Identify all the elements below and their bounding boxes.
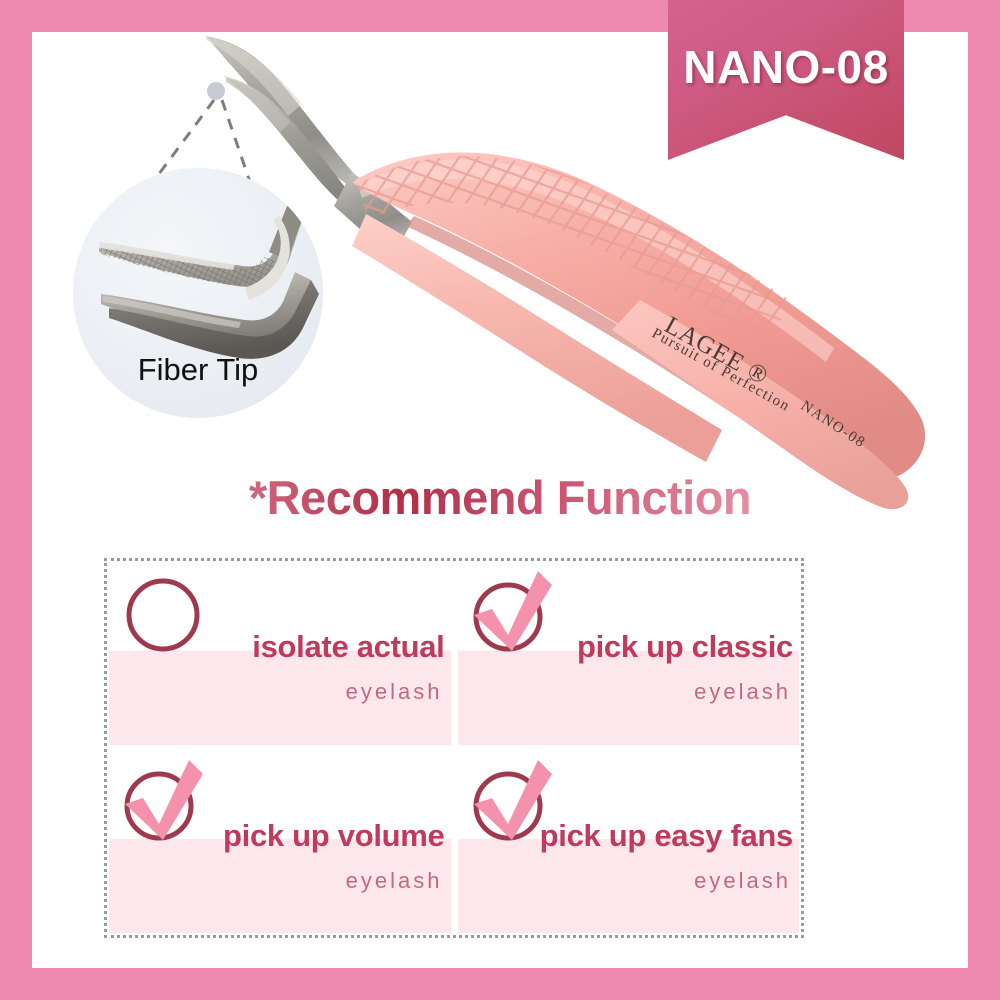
function-cell-pick-up-volume[interactable]: pick up volume eyelash: [109, 752, 451, 934]
function-subtitle: eyelash: [109, 679, 443, 705]
function-subtitle: eyelash: [109, 868, 443, 894]
function-cell-isolate-actual[interactable]: isolate actual eyelash: [109, 563, 451, 745]
model-banner-label: NANO-08: [668, 40, 904, 94]
callout-anchor-dot: [207, 82, 225, 100]
fiber-tip-label: Fiber Tip: [73, 352, 323, 388]
function-cell-pick-up-classic[interactable]: pick up classic eyelash: [458, 563, 800, 745]
function-title: isolate actual: [109, 629, 445, 665]
product-infographic: LAGEE ® Pursuit of Perfection NANO-08: [0, 0, 1000, 1000]
function-subtitle: eyelash: [458, 868, 792, 894]
recommend-function-heading: *Recommend Function: [0, 470, 1000, 525]
function-title: pick up volume: [109, 818, 445, 854]
function-title: pick up easy fans: [458, 818, 794, 854]
function-cell-pick-up-easy-fans[interactable]: pick up easy fans eyelash: [458, 752, 800, 934]
function-title: pick up classic: [458, 629, 794, 665]
recommend-function-grid: isolate actual eyelash pick up classic e…: [104, 558, 804, 938]
function-subtitle: eyelash: [458, 679, 792, 705]
